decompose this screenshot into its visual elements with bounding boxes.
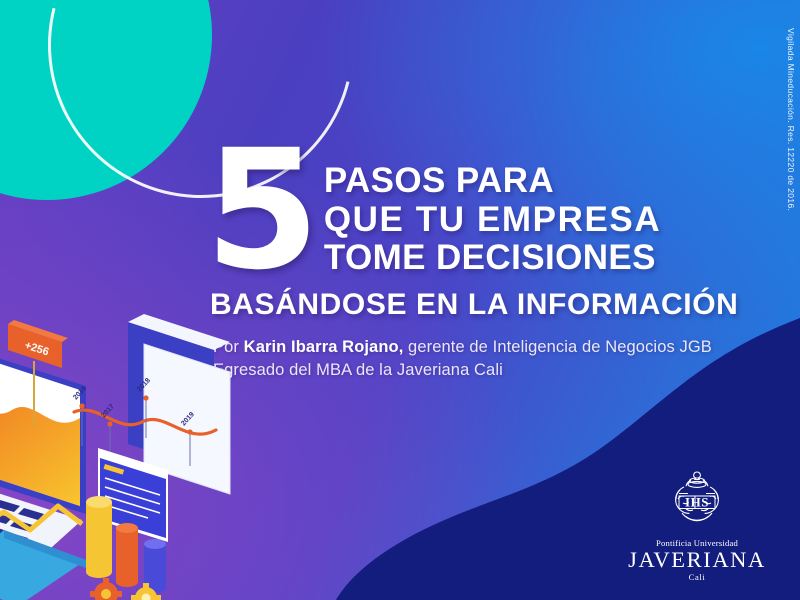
university-logo: IHS Pontificia Universidad JAVERIANA Cal… (626, 468, 768, 582)
headline-line-3: TOME DECISIONES (324, 239, 661, 278)
disclaimer-text: Vigilada Mineducación. Res. 12220 de 201… (786, 28, 796, 211)
isometric-data-illustration: +256 (0, 306, 298, 600)
byline-role: gerente de Inteligencia de Negocios JGB (403, 338, 712, 356)
cylinder-yellow (86, 496, 112, 578)
headline-line-2: QUE TU EMPRESA (324, 201, 661, 240)
headline-line-1: PASOS PARA (324, 162, 661, 201)
headline-number: 5 (205, 140, 314, 282)
laptop-screen (0, 342, 86, 514)
logo-javeriana: JAVERIANA (626, 548, 768, 572)
poster-canvas: 5 PASOS PARA QUE TU EMPRESA TOME DECISIO… (0, 0, 800, 600)
ihs-crest-icon: IHS (662, 468, 732, 530)
cylinder-orange (116, 523, 138, 587)
teal-triangle-chart (0, 506, 86, 600)
svg-text:IHS: IHS (685, 494, 709, 509)
logo-city: Cali (626, 572, 768, 582)
